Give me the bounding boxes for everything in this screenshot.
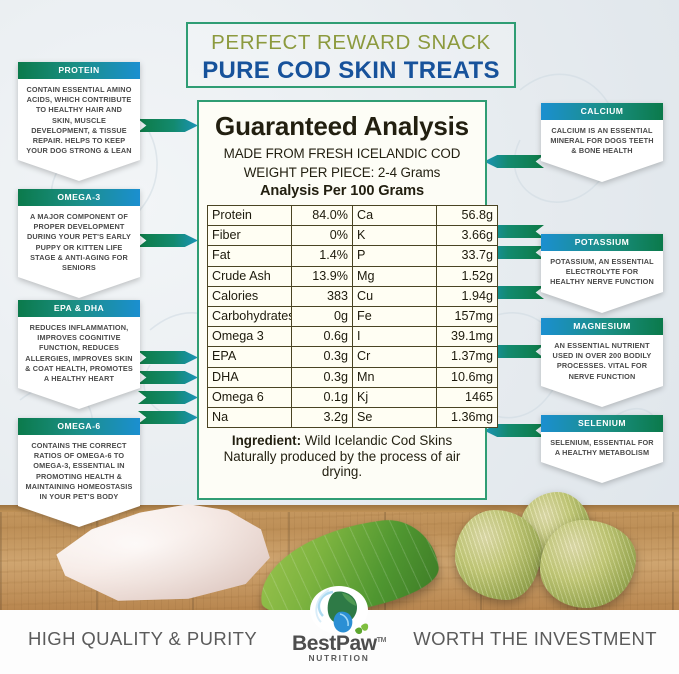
table-cell: EPA bbox=[208, 347, 292, 367]
table-cell: 10.6mg bbox=[437, 367, 498, 387]
table-cell: 157mg bbox=[437, 307, 498, 327]
table-cell: 1.4% bbox=[292, 246, 353, 266]
callout-epa-dha-text: REDUCES INFLAMMATION, IMPROVES COGNITIVE… bbox=[18, 317, 140, 388]
table-cell: 84.0% bbox=[292, 206, 353, 226]
brand-subtitle: NUTRITION bbox=[277, 653, 401, 663]
brand-logo: BestPawTM NUTRITION bbox=[277, 588, 401, 672]
callout-omega3: OMEGA-3 A MAJOR COMPONENT OF PROPER DEVE… bbox=[18, 189, 140, 298]
table-cell: 3.66g bbox=[437, 226, 498, 246]
callout-omega6: OMEGA-6 CONTAINS THE CORRECT RATIOS OF O… bbox=[18, 418, 140, 527]
panel-subtitle-origin: MADE FROM FRESH ICELANDIC COD bbox=[207, 146, 477, 161]
callout-tail bbox=[541, 386, 663, 407]
table-row: Na3.2gSe1.36mg bbox=[208, 408, 498, 428]
table-cell: 1.37mg bbox=[437, 347, 498, 367]
callout-tail bbox=[18, 277, 140, 298]
table-cell: Ca bbox=[353, 206, 437, 226]
callout-tail bbox=[541, 161, 663, 182]
table-cell: Na bbox=[208, 408, 292, 428]
table-cell: 0g bbox=[292, 307, 353, 327]
callout-epa-dha-title: EPA & DHA bbox=[18, 300, 140, 317]
callout-magnesium-text: AN ESSENTIAL NUTRIENT USED IN OVER 200 B… bbox=[541, 335, 663, 386]
table-cell: Se bbox=[353, 408, 437, 428]
table-cell: 0.3g bbox=[292, 347, 353, 367]
table-cell: 56.8g bbox=[437, 206, 498, 226]
ingredient-statement: Ingredient: Wild Icelandic Cod Skins Nat… bbox=[207, 433, 477, 480]
table-row: Crude Ash13.9%Mg1.52g bbox=[208, 266, 498, 286]
trademark-symbol: TM bbox=[377, 637, 386, 644]
header-banner: PERFECT REWARD SNACK PURE COD SKIN TREAT… bbox=[186, 22, 516, 88]
callout-protein: PROTEIN CONTAIN ESSENTIAL AMINO ACIDS, W… bbox=[18, 62, 140, 181]
table-row: Carbohydrates0gFe157mg bbox=[208, 307, 498, 327]
callout-epa-dha: EPA & DHA REDUCES INFLAMMATION, IMPROVES… bbox=[18, 300, 140, 409]
header-tagline: PERFECT REWARD SNACK bbox=[188, 31, 514, 55]
table-row: Protein84.0%Ca56.8g bbox=[208, 206, 498, 226]
table-cell: Carbohydrates bbox=[208, 307, 292, 327]
callout-selenium-title: SELENIUM bbox=[541, 415, 663, 432]
callout-tail bbox=[18, 388, 140, 409]
table-cell: P bbox=[353, 246, 437, 266]
callout-magnesium-title: MAGNESIUM bbox=[541, 318, 663, 335]
table-cell: 13.9% bbox=[292, 266, 353, 286]
ingredient-label: Ingredient: bbox=[232, 433, 301, 448]
product-title: PURE COD SKIN TREATS bbox=[188, 57, 514, 85]
callout-calcium-text: CALCIUM IS AN ESSENTIAL MINERAL FOR DOGS… bbox=[541, 120, 663, 161]
callout-protein-title: PROTEIN bbox=[18, 62, 140, 79]
table-cell: DHA bbox=[208, 367, 292, 387]
table-cell: Cu bbox=[353, 286, 437, 306]
panel-title: Guaranteed Analysis bbox=[207, 111, 477, 142]
callout-calcium: CALCIUM CALCIUM IS AN ESSENTIAL MINERAL … bbox=[541, 103, 663, 182]
table-row: Fat1.4%P33.7g bbox=[208, 246, 498, 266]
table-row: Omega 30.6gI39.1mg bbox=[208, 327, 498, 347]
callout-omega6-title: OMEGA-6 bbox=[18, 418, 140, 435]
table-cell: 0.1g bbox=[292, 387, 353, 407]
table-cell: 383 bbox=[292, 286, 353, 306]
callout-selenium-text: SELENIUM, ESSENTIAL FOR A HEALTHY METABO… bbox=[541, 432, 663, 462]
table-row: Fiber0%K3.66g bbox=[208, 226, 498, 246]
callout-potassium-title: POTASSIUM bbox=[541, 234, 663, 251]
guaranteed-analysis-panel: Guaranteed Analysis MADE FROM FRESH ICEL… bbox=[197, 100, 487, 500]
callout-tail bbox=[541, 292, 663, 313]
table-cell: 33.7g bbox=[437, 246, 498, 266]
table-cell: Omega 3 bbox=[208, 327, 292, 347]
table-row: EPA0.3gCr1.37mg bbox=[208, 347, 498, 367]
callout-omega6-text: CONTAINS THE CORRECT RATIOS OF OMEGA-6 T… bbox=[18, 435, 140, 506]
callout-tail bbox=[541, 462, 663, 483]
callout-selenium: SELENIUM SELENIUM, ESSENTIAL FOR A HEALT… bbox=[541, 415, 663, 483]
callout-potassium-text: POTASSIUM, AN ESSENTIAL ELECTROLYTE FOR … bbox=[541, 251, 663, 292]
table-row: Omega 60.1gKj1465 bbox=[208, 387, 498, 407]
table-cell: Fe bbox=[353, 307, 437, 327]
table-cell: 1.36mg bbox=[437, 408, 498, 428]
panel-subtitle-basis: Analysis Per 100 Grams bbox=[207, 183, 477, 199]
table-cell: 3.2g bbox=[292, 408, 353, 428]
table-cell: Kj bbox=[353, 387, 437, 407]
callout-tail bbox=[18, 160, 140, 181]
table-cell: 1.94g bbox=[437, 286, 498, 306]
table-cell: I bbox=[353, 327, 437, 347]
callout-omega3-title: OMEGA-3 bbox=[18, 189, 140, 206]
table-cell: Fiber bbox=[208, 226, 292, 246]
brand-paw: Paw bbox=[336, 632, 377, 655]
table-cell: Cr bbox=[353, 347, 437, 367]
table-cell: 1465 bbox=[437, 387, 498, 407]
table-row: Calories383Cu1.94g bbox=[208, 286, 498, 306]
callout-omega3-text: A MAJOR COMPONENT OF PROPER DEVELOPMENT … bbox=[18, 206, 140, 277]
brand-best: Best bbox=[292, 632, 336, 655]
nutrition-analysis-table: Protein84.0%Ca56.8gFiber0%K3.66gFat1.4%P… bbox=[207, 205, 498, 428]
panel-subtitle-weight: WEIGHT PER PIECE: 2-4 Grams bbox=[207, 165, 477, 180]
dog-leaf-logo-icon bbox=[309, 586, 369, 638]
table-cell: Calories bbox=[208, 286, 292, 306]
table-cell: Fat bbox=[208, 246, 292, 266]
callout-magnesium: MAGNESIUM AN ESSENTIAL NUTRIENT USED IN … bbox=[541, 318, 663, 407]
table-cell: 0.3g bbox=[292, 367, 353, 387]
callout-potassium: POTASSIUM POTASSIUM, AN ESSENTIAL ELECTR… bbox=[541, 234, 663, 313]
table-cell: 1.52g bbox=[437, 266, 498, 286]
table-cell: K bbox=[353, 226, 437, 246]
table-cell: 39.1mg bbox=[437, 327, 498, 347]
table-cell: 0% bbox=[292, 226, 353, 246]
table-row: DHA0.3gMn10.6mg bbox=[208, 367, 498, 387]
table-cell: Omega 6 bbox=[208, 387, 292, 407]
footer-tagline-left: HIGH QUALITY & PURITY bbox=[28, 628, 257, 650]
callout-protein-text: CONTAIN ESSENTIAL AMINO ACIDS, WHICH CON… bbox=[18, 79, 140, 160]
table-cell: Crude Ash bbox=[208, 266, 292, 286]
nutrition-table-body: Protein84.0%Ca56.8gFiber0%K3.66gFat1.4%P… bbox=[208, 206, 498, 428]
callout-calcium-title: CALCIUM bbox=[541, 103, 663, 120]
table-cell: Protein bbox=[208, 206, 292, 226]
footer-tagline-right: WORTH THE INVESTMENT bbox=[413, 628, 657, 650]
callout-tail bbox=[18, 506, 140, 527]
table-cell: Mg bbox=[353, 266, 437, 286]
table-cell: 0.6g bbox=[292, 327, 353, 347]
table-cell: Mn bbox=[353, 367, 437, 387]
